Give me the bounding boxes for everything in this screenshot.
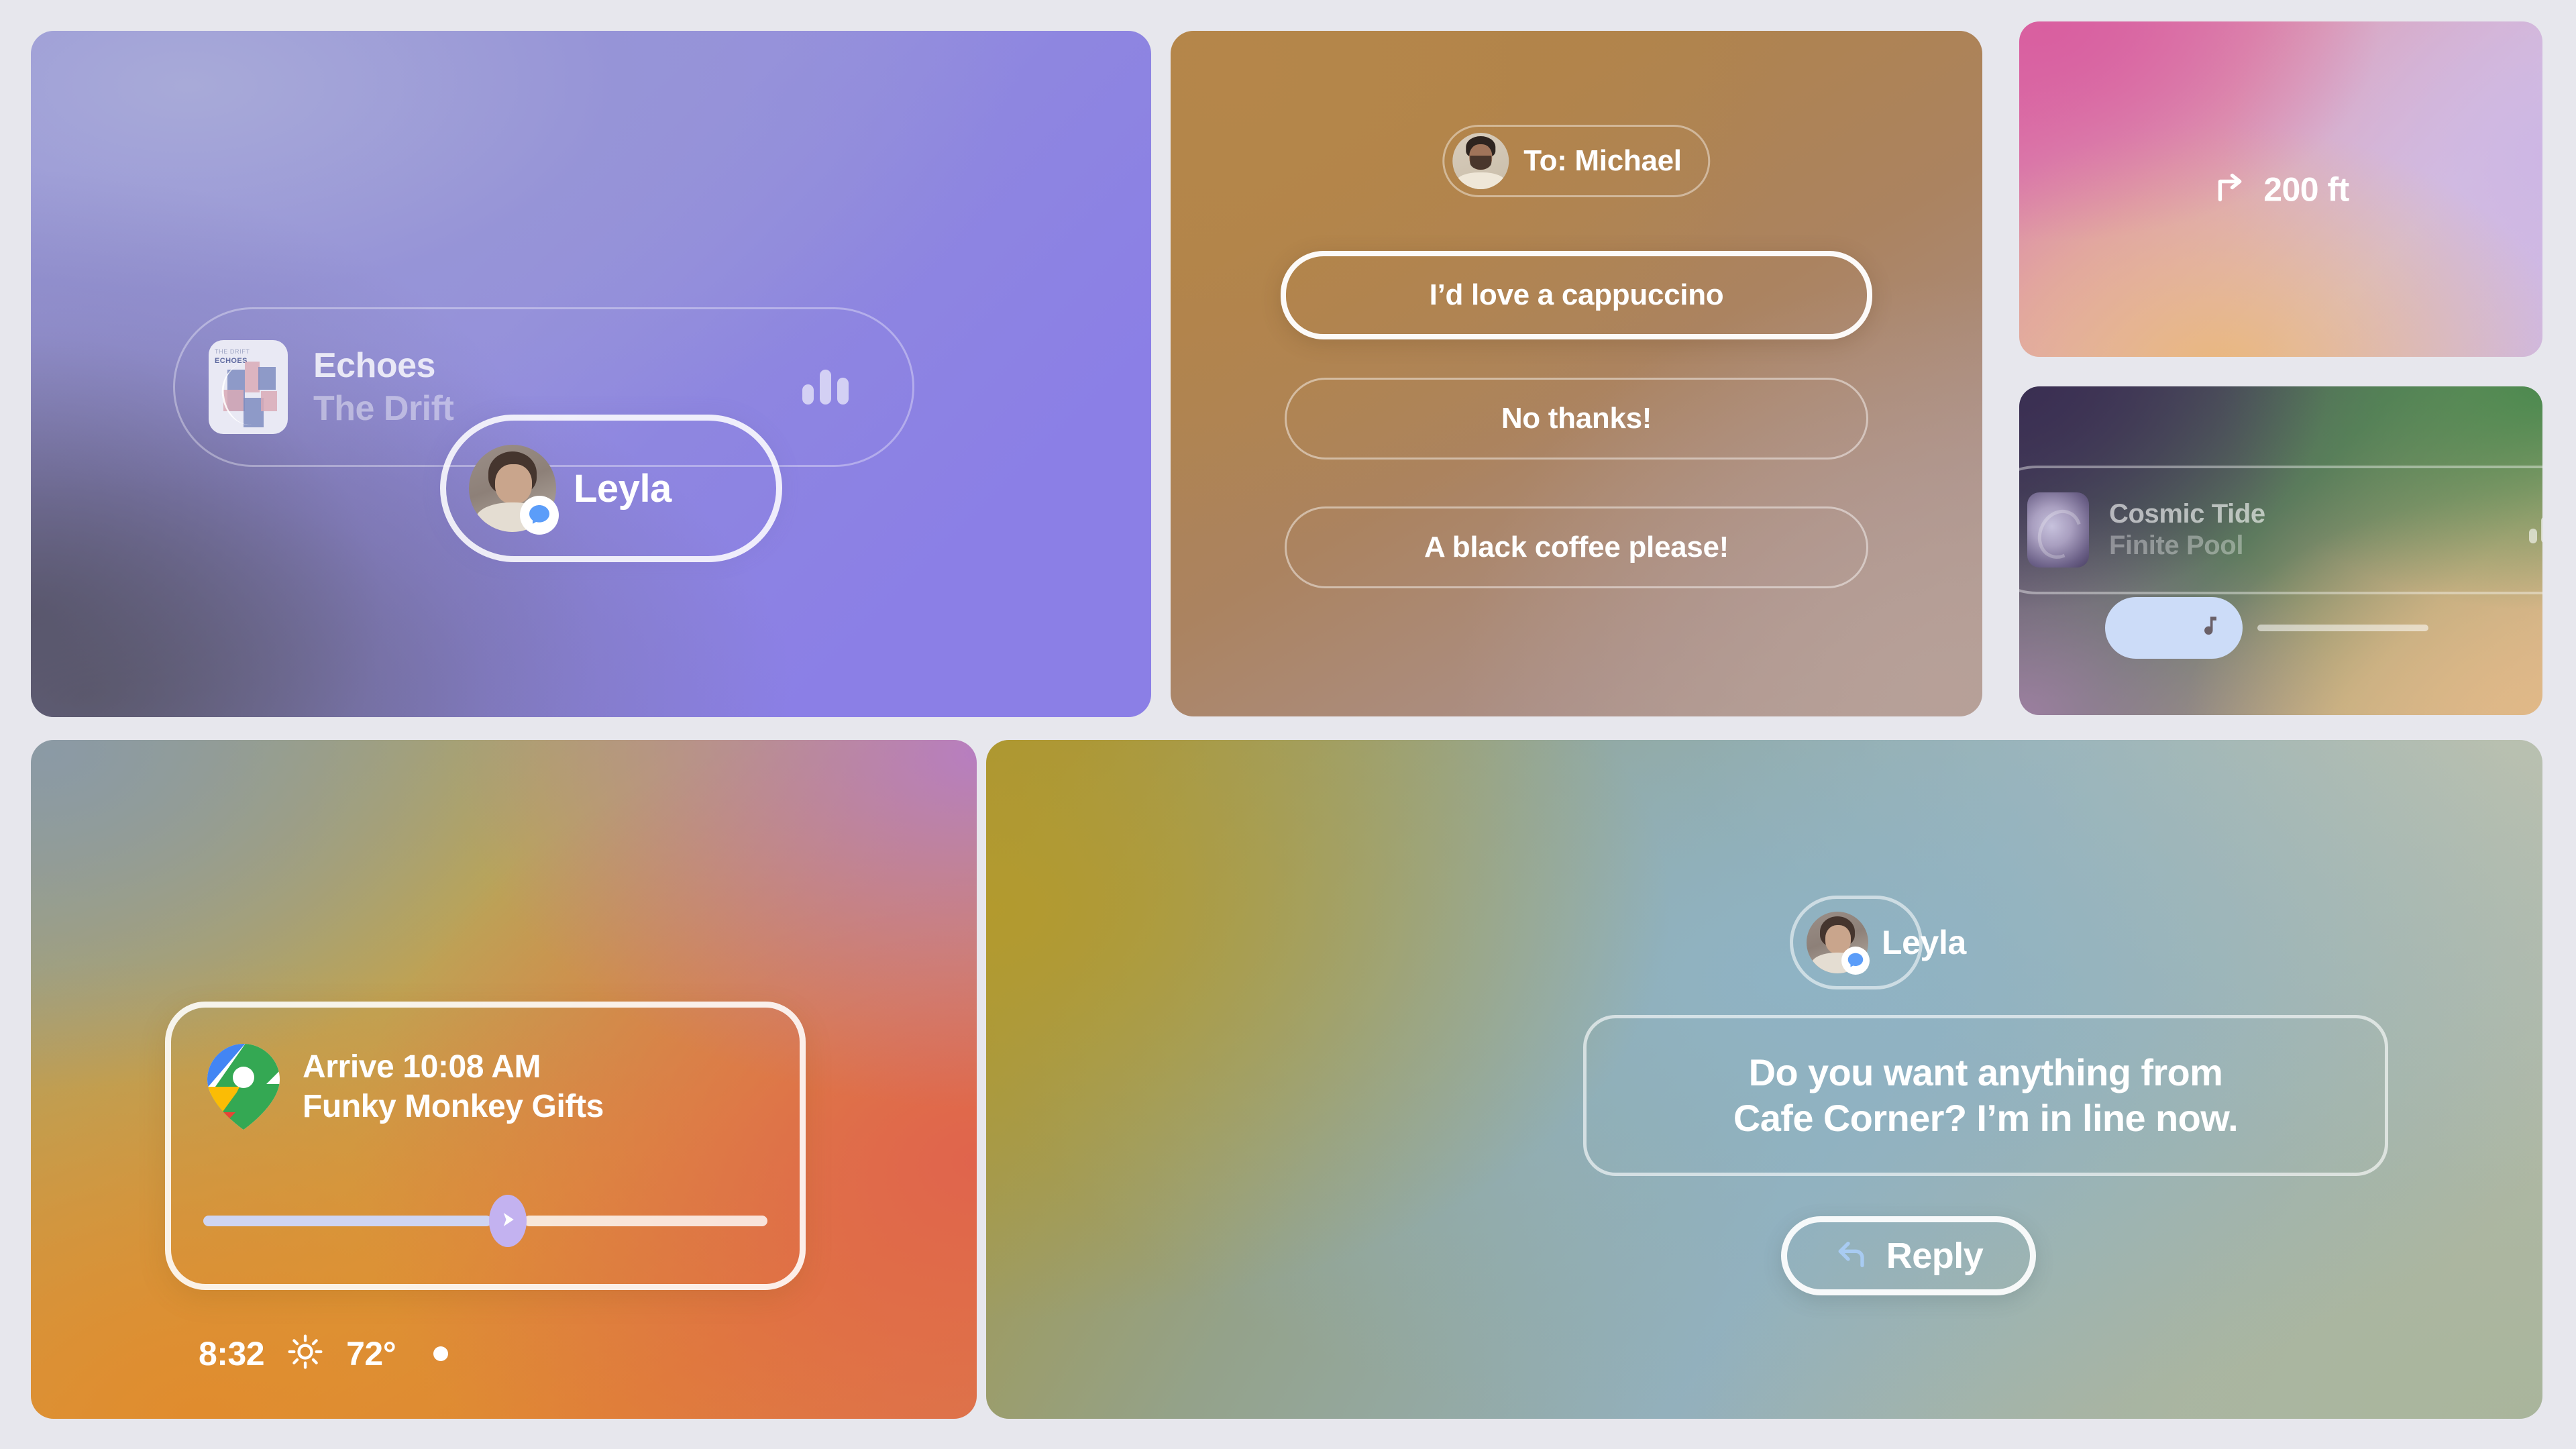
equalizer-icon xyxy=(2529,517,2542,543)
music-note-icon xyxy=(2194,612,2224,645)
reply-option-2[interactable]: A black coffee please! xyxy=(1285,506,1868,588)
turn-right-icon xyxy=(2212,170,2249,209)
navigation-distance-card[interactable]: 200 ft xyxy=(2019,21,2542,357)
track-artist: The Drift xyxy=(313,388,453,429)
reply-option-label: I’d love a cappuccino xyxy=(1430,278,1724,312)
cosmic-tide-music-card[interactable]: Cosmic Tide Finite Pool xyxy=(2019,386,2542,715)
sun-icon xyxy=(287,1334,323,1373)
sender-chip[interactable]: Leyla xyxy=(1790,896,1923,989)
message-line-2: Cafe Corner? I’m in line now. xyxy=(1733,1097,2238,1139)
recipient-chip[interactable]: To: Michael xyxy=(1442,125,1710,197)
clock-label: 8:32 xyxy=(199,1334,264,1373)
reply-option-0[interactable]: I’d love a cappuccino xyxy=(1281,251,1872,339)
contact-chip-leyla[interactable]: Leyla xyxy=(440,415,782,562)
track-artist: Finite Pool xyxy=(2109,531,2265,561)
avatar xyxy=(1807,912,1868,973)
progress-track-remaining xyxy=(524,1216,767,1226)
maneuver-row: 200 ft xyxy=(2212,170,2349,209)
distance-label: 200 ft xyxy=(2263,170,2349,209)
reply-button[interactable]: Reply xyxy=(1781,1216,2036,1295)
reply-option-label: No thanks! xyxy=(1501,402,1652,435)
messages-badge-icon xyxy=(1841,947,1870,975)
track-title: Echoes xyxy=(313,345,453,386)
route-progress-slider[interactable] xyxy=(203,1206,767,1236)
arrival-time-label: Arrive 10:08 AM xyxy=(303,1049,604,1085)
maps-pin-icon xyxy=(206,1042,281,1131)
messages-badge-icon xyxy=(520,496,559,535)
navigation-arrow-icon xyxy=(498,1210,518,1233)
track-title: Cosmic Tide xyxy=(2109,499,2265,529)
destination-label: Funky Monkey Gifts xyxy=(303,1088,604,1125)
contact-name: Leyla xyxy=(574,466,672,511)
avatar xyxy=(469,445,556,532)
avatar xyxy=(1452,133,1509,189)
progress-track-filled xyxy=(203,1216,492,1226)
sender-name: Leyla xyxy=(1882,923,1966,962)
message-bubble: Do you want anything from Cafe Corner? I… xyxy=(1583,1015,2388,1176)
equalizer-icon xyxy=(802,370,849,405)
status-row: 8:32 72° xyxy=(165,1334,675,1373)
status-dot-icon xyxy=(433,1346,448,1361)
seek-knob[interactable] xyxy=(2105,597,2243,659)
reply-option-1[interactable]: No thanks! xyxy=(1285,378,1868,460)
now-playing-pill[interactable]: Cosmic Tide Finite Pool xyxy=(2019,466,2542,594)
album-art xyxy=(2027,492,2089,568)
recipient-label: To: Michael xyxy=(1523,144,1681,178)
progress-knob[interactable] xyxy=(489,1195,527,1247)
now-playing-card[interactable]: THE DRIFT ECHOES Echoes The Drift xyxy=(31,31,1151,717)
reply-option-label: A black coffee please! xyxy=(1424,531,1729,564)
eta-panel[interactable]: Arrive 10:08 AM Funky Monkey Gifts xyxy=(165,1002,806,1290)
maps-eta-card[interactable]: Arrive 10:08 AM Funky Monkey Gifts 8:32 xyxy=(31,740,977,1419)
seek-slider[interactable] xyxy=(2105,608,2542,648)
reply-button-label: Reply xyxy=(1886,1235,1984,1277)
incoming-message-card[interactable]: Leyla Do you want anything from Cafe Cor… xyxy=(986,740,2542,1419)
message-line-1: Do you want anything from xyxy=(1749,1051,2223,1093)
widget-dashboard: THE DRIFT ECHOES Echoes The Drift xyxy=(0,0,2576,1449)
reply-arrow-icon xyxy=(1834,1236,1872,1277)
seek-track[interactable] xyxy=(2257,625,2428,631)
album-art: THE DRIFT ECHOES xyxy=(209,340,288,434)
suggested-replies-card[interactable]: To: Michael I’d love a cappuccino No tha… xyxy=(1171,31,1982,716)
temperature-label: 72° xyxy=(346,1334,396,1373)
album-art-label-top: THE DRIFT xyxy=(215,348,250,355)
